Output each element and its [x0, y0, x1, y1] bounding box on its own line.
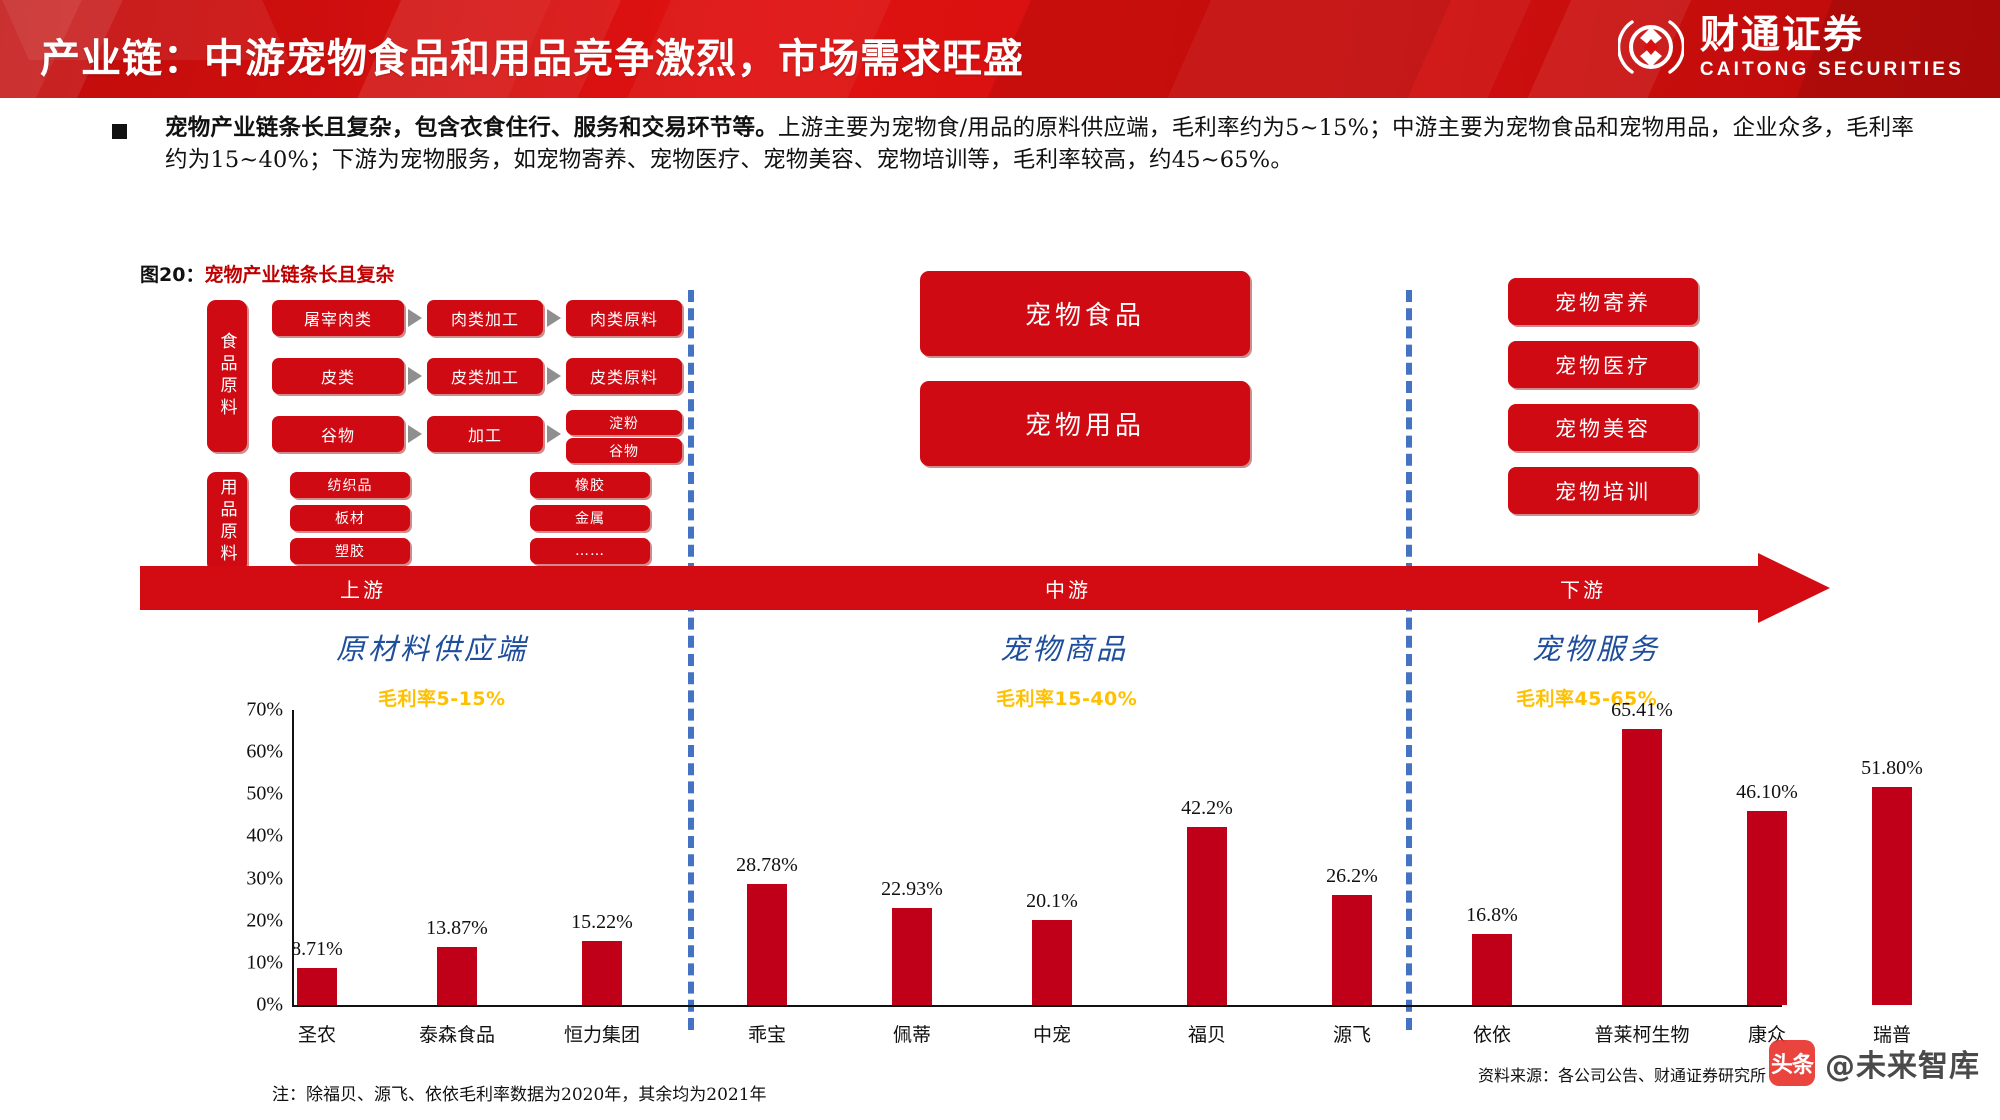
flow-arrow-head-icon	[1758, 553, 1830, 623]
x-axis-label: 圣农	[298, 1020, 336, 1047]
bar-value-label: 51.80%	[1861, 757, 1923, 780]
x-axis-label: 乖宝	[748, 1020, 786, 1047]
figure-caption: 图20：宠物产业链条长且复杂	[140, 260, 394, 287]
chain-downstream-1: 宠物医疗	[1508, 341, 1698, 388]
chain-output-1: 皮类原料	[566, 358, 682, 394]
chain-midstream-1: 宠物用品	[920, 381, 1250, 466]
chain-process-2: 加工	[427, 416, 543, 452]
chain-midstream-0: 宠物食品	[920, 271, 1250, 356]
caitong-emblem-icon	[1618, 14, 1684, 80]
chain-goods-left-1: 板材	[290, 505, 410, 531]
chain-process-1: 皮类加工	[427, 358, 543, 394]
chain-goods-right-1: 金属	[530, 505, 650, 531]
tier-name-downstream: 宠物服务	[1532, 626, 1660, 668]
figure-number: 图20：	[140, 264, 204, 286]
x-axis-label: 普莱柯生物	[1594, 1020, 1689, 1047]
page-title: 产业链：中游宠物食品和用品竞争激烈，市场需求旺盛	[40, 26, 1024, 84]
chain-goods-right-2: ……	[530, 538, 650, 564]
figure-title: 宠物产业链条长且复杂	[204, 264, 394, 286]
bar: 42.2%	[1187, 827, 1227, 1005]
bar-value-label: 20.1%	[1026, 890, 1078, 913]
chain-arrow-icon	[547, 367, 561, 385]
band-label-upstream: 上游	[340, 574, 386, 603]
chain-arrow-icon	[408, 425, 422, 443]
y-axis-tick: 20%	[246, 909, 283, 932]
x-axis-label: 恒力集团	[564, 1020, 640, 1047]
brand-name-cn: 财通证券	[1700, 16, 1864, 55]
bar: 8.71%	[297, 968, 337, 1005]
chain-output-2b: 谷物	[566, 438, 682, 463]
plot-area: 0%10%20%30%40%50%60%70%8.71%13.87%15.22%…	[292, 710, 1782, 1005]
x-axis-label: 福贝	[1188, 1020, 1226, 1047]
bar-value-label: 15.22%	[571, 911, 633, 934]
gross-margin-bar-chart: 0%10%20%30%40%50%60%70%8.71%13.87%15.22%…	[0, 690, 2000, 1120]
chain-downstream-0: 宠物寄养	[1508, 278, 1698, 325]
chain-group-food-raw: 食品原料	[207, 300, 247, 452]
bar-value-label: 42.2%	[1181, 797, 1233, 820]
toutiao-logo-icon: 头条	[1769, 1040, 1815, 1086]
value-chain-diagram: 食品原料 用品原料 屠宰肉类 肉类加工 肉类原料 皮类 皮类加工 皮类原料 谷物…	[0, 286, 2000, 576]
x-axis-label: 中宠	[1033, 1020, 1071, 1047]
tier-name-upstream: 原材料供应端	[336, 626, 528, 668]
bar-value-label: 8.71%	[291, 938, 343, 961]
bar: 28.78%	[747, 884, 787, 1005]
brand-name-en: CAITONG SECURITIES	[1700, 60, 1964, 79]
bullet-block: 宠物产业链条长且复杂，包含衣食住行、服务和交易环节等。上游主要为宠物食/用品的原…	[112, 112, 1932, 176]
chain-arrow-icon	[547, 309, 561, 327]
chart-source: 资料来源：各公司公告、财通证券研究所	[1478, 1062, 1766, 1086]
x-axis-label: 依依	[1473, 1020, 1511, 1047]
bar-value-label: 16.8%	[1466, 904, 1518, 927]
chain-arrow-icon	[408, 309, 422, 327]
flow-arrow-band: 上游 中游 下游	[140, 566, 1840, 610]
y-axis-tick: 70%	[246, 699, 283, 722]
chain-raw-0: 屠宰肉类	[272, 300, 404, 336]
bar-value-label: 13.87%	[426, 917, 488, 940]
bullet-square-icon	[112, 124, 127, 139]
x-axis	[292, 1005, 1782, 1007]
y-axis-tick: 50%	[246, 783, 283, 806]
bar-value-label: 65.41%	[1611, 699, 1673, 722]
x-axis-label: 源飞	[1333, 1020, 1371, 1047]
chart-note: 注：除福贝、源飞、依依毛利率数据为2020年，其余均为2021年	[272, 1080, 767, 1105]
x-axis-label: 泰森食品	[419, 1020, 495, 1047]
chain-downstream-2: 宠物美容	[1508, 404, 1698, 451]
watermark: 头条 @未来智库	[1769, 1040, 1980, 1086]
bar-value-label: 46.10%	[1736, 781, 1798, 804]
x-axis-label: 佩蒂	[893, 1020, 931, 1047]
chain-output-2a: 淀粉	[566, 410, 682, 435]
chain-group-goods-raw: 用品原料	[207, 472, 247, 572]
chain-downstream-3: 宠物培训	[1508, 467, 1698, 514]
bar-value-label: 22.93%	[881, 878, 943, 901]
chain-arrow-icon	[408, 367, 422, 385]
y-axis-tick: 30%	[246, 867, 283, 890]
band-label-midstream: 中游	[1045, 574, 1091, 603]
bar: 65.41%	[1622, 729, 1662, 1005]
bar: 16.8%	[1472, 934, 1512, 1005]
chain-raw-2: 谷物	[272, 416, 404, 452]
bar: 26.2%	[1332, 895, 1372, 1005]
bar-value-label: 28.78%	[736, 854, 798, 877]
tier-name-midstream: 宠物商品	[1000, 626, 1128, 668]
watermark-text: @未来智库	[1825, 1041, 1980, 1085]
bar: 20.1%	[1032, 920, 1072, 1005]
bar: 13.87%	[437, 947, 477, 1005]
y-axis-tick: 10%	[246, 951, 283, 974]
chain-goods-left-2: 塑胶	[290, 538, 410, 564]
chain-raw-1: 皮类	[272, 358, 404, 394]
bullet-paragraph: 宠物产业链条长且复杂，包含衣食住行、服务和交易环节等。上游主要为宠物食/用品的原…	[165, 112, 1932, 176]
bar: 46.10%	[1747, 811, 1787, 1005]
y-axis-tick: 40%	[246, 825, 283, 848]
chain-arrow-icon	[547, 425, 561, 443]
bar-value-label: 26.2%	[1326, 865, 1378, 888]
chain-output-0: 肉类原料	[566, 300, 682, 336]
bar: 22.93%	[892, 908, 932, 1005]
band-label-downstream: 下游	[1560, 574, 1606, 603]
chain-goods-right-0: 橡胶	[530, 472, 650, 498]
y-axis-tick: 0%	[256, 994, 283, 1017]
brand-logo: 财通证券 CAITONG SECURITIES	[1618, 14, 1964, 80]
y-axis-tick: 60%	[246, 741, 283, 764]
bar: 15.22%	[582, 941, 622, 1005]
chain-goods-left-0: 纺织品	[290, 472, 410, 498]
bullet-lead: 宠物产业链条长且复杂，包含衣食住行、服务和交易环节等。	[165, 115, 778, 141]
slide-header: 产业链：中游宠物食品和用品竞争激烈，市场需求旺盛 财通证券 CAITONG SE…	[0, 0, 2000, 98]
bar: 51.80%	[1872, 787, 1912, 1005]
chain-process-0: 肉类加工	[427, 300, 543, 336]
